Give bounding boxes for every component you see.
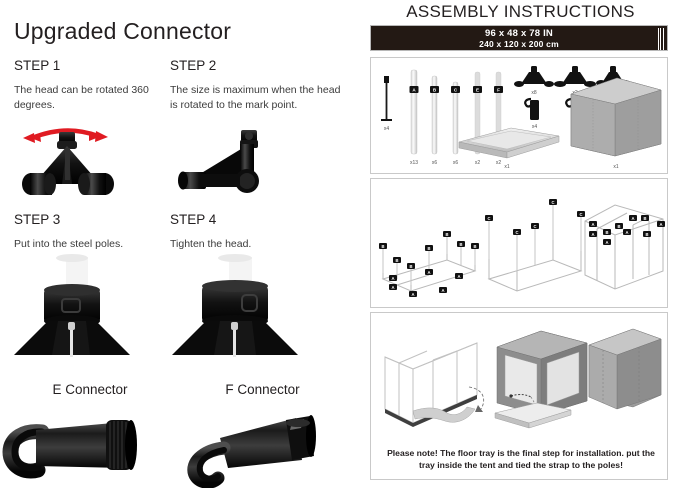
label-chip: C [577, 211, 585, 217]
pole-label-e: E [476, 88, 479, 93]
tripod-connector-folded-figure [178, 128, 298, 200]
assembly-labels: B B B B B B B A A A A A A C C C [379, 199, 665, 297]
svg-text:B: B [381, 244, 384, 249]
parts-list-panel: x4 A x13 B x6 C x6 E [370, 57, 668, 174]
step-3-description: Put into the steel poles. [14, 237, 164, 252]
tripod-connector-folded-icon [178, 128, 298, 200]
pole-label-f: F [497, 88, 500, 93]
step-4-title: STEP 4 [170, 212, 345, 227]
tripod-connector-rotating-figure [10, 118, 142, 198]
connector-3way-qty: x8 [531, 90, 537, 96]
svg-text:B: B [643, 216, 646, 221]
tent-cover-group: x1 [571, 78, 661, 170]
assembly-instruction-sheet: Upgraded Connector STEP 1 The head can b… [0, 0, 679, 488]
step-1-description: The head can be rotated 360 degrees. [14, 83, 164, 112]
f-connector-hook-icon [180, 408, 345, 488]
connector-tightened-figure [168, 255, 318, 360]
tent-cover-qty: x1 [613, 164, 619, 170]
svg-text:C: C [515, 230, 518, 235]
assembly-instructions-title: ASSEMBLY INSTRUCTIONS [362, 2, 679, 22]
parts-list-diagram: x4 A x13 B x6 C x6 E [371, 58, 667, 173]
svg-text:A: A [659, 222, 662, 227]
f-connector-block: F Connector [180, 382, 345, 397]
label-chip: B [471, 243, 479, 249]
label-chip: B [393, 257, 401, 263]
svg-text:A: A [591, 232, 594, 237]
tent-closed [589, 329, 661, 409]
final-steps-panel: Please note! The floor tray is the final… [370, 312, 668, 480]
label-chip: A [389, 275, 397, 281]
label-chip: A [439, 287, 447, 293]
svg-text:B: B [445, 232, 448, 237]
pole-qty-c: x6 [453, 160, 459, 166]
label-chip: C [549, 199, 557, 205]
e-connector-title: E Connector [10, 382, 170, 397]
e-connector-figure [2, 408, 167, 486]
connector-on-white-pole-icon [8, 255, 148, 360]
svg-text:B: B [645, 232, 648, 237]
e-connector-block: E Connector [10, 382, 170, 397]
floor-tray-qty: x1 [504, 164, 510, 170]
svg-text:B: B [617, 224, 620, 229]
svg-text:A: A [441, 288, 444, 293]
label-chip: A [657, 221, 665, 227]
barcode-stripe [658, 28, 665, 50]
svg-text:C: C [579, 212, 582, 217]
step-1-block: STEP 1 The head can be rotated 360 degre… [14, 58, 164, 112]
label-chip: B [643, 231, 651, 237]
pole-qty-b: x6 [432, 160, 438, 166]
tray-arrow-head [475, 405, 483, 412]
page-title: Upgraded Connector [14, 18, 231, 45]
svg-text:B: B [409, 264, 412, 269]
label-chip: C [485, 215, 493, 221]
f-connector-figure [180, 408, 345, 488]
svg-text:B: B [605, 230, 608, 235]
step-2-description: The size is maximum when the head is rot… [170, 83, 345, 112]
column-divider [362, 0, 363, 488]
size-metric: 240 x 120 x 200 cm [479, 39, 559, 49]
label-chip: A [409, 291, 417, 297]
f-connector-title: F Connector [180, 382, 345, 397]
assembly-uprights [489, 201, 581, 291]
label-chip: B [615, 223, 623, 229]
svg-text:B: B [473, 244, 476, 249]
svg-text:A: A [625, 230, 628, 235]
svg-text:A: A [631, 216, 634, 221]
label-chip: B [457, 241, 465, 247]
frame-assembly-panel: B B B B B B B A A A A A A C C C [370, 178, 668, 308]
pole-qty-f: x2 [496, 160, 502, 166]
step-3-title: STEP 3 [14, 212, 164, 227]
svg-text:B: B [459, 242, 462, 247]
svg-text:A: A [605, 240, 608, 245]
svg-text:B: B [395, 258, 398, 263]
right-panel-assembly: ASSEMBLY INSTRUCTIONS 96 x 48 x 78 IN 24… [362, 0, 679, 488]
svg-text:A: A [391, 276, 394, 281]
label-chip: B [641, 215, 649, 221]
step-4-description: Tighten the head. [170, 237, 345, 252]
pole-qty-e: x2 [475, 160, 481, 166]
label-chip: A [623, 229, 631, 235]
step-4-block: STEP 4 Tighten the head. [170, 212, 345, 252]
connector-on-white-pole-figure [8, 255, 148, 360]
label-chip: C [531, 223, 539, 229]
svg-text:A: A [427, 270, 430, 275]
label-chip: B [603, 229, 611, 235]
label-chip: A [589, 231, 597, 237]
label-chip: B [379, 243, 387, 249]
left-panel-upgraded-connector: Upgraded Connector STEP 1 The head can b… [0, 0, 358, 488]
size-banner: 96 x 48 x 78 IN 240 x 120 x 200 cm [370, 25, 668, 51]
final-assembly-diagram [371, 313, 667, 435]
svg-text:A: A [457, 274, 460, 279]
step-2-block: STEP 2 The size is maximum when the head… [170, 58, 345, 112]
strap-qty: x4 [384, 126, 390, 132]
frame-assembly-diagram: B B B B B B B A A A A A A C C C [371, 179, 667, 307]
label-chip: C [513, 229, 521, 235]
hook-e-group: x4 [525, 99, 539, 130]
step-2-title: STEP 2 [170, 58, 345, 73]
svg-text:C: C [551, 200, 554, 205]
label-chip: A [629, 215, 637, 221]
label-chip: A [603, 239, 611, 245]
svg-text:B: B [427, 246, 430, 251]
svg-text:C: C [487, 216, 490, 221]
step-1-title: STEP 1 [14, 58, 164, 73]
svg-text:A: A [391, 285, 394, 290]
label-chip: A [589, 221, 597, 227]
label-chip: A [389, 284, 397, 290]
size-imperial: 96 x 48 x 78 IN [485, 28, 553, 39]
label-chip: B [443, 231, 451, 237]
tripod-connector-rotating-icon [10, 118, 142, 198]
label-chip: B [425, 245, 433, 251]
svg-text:A: A [591, 222, 594, 227]
connector-tightened-icon [168, 255, 318, 360]
connector-3way-group: x8 [514, 66, 554, 96]
e-connector-hook-icon [2, 408, 167, 486]
label-chip: A [425, 269, 433, 275]
step-3-block: STEP 3 Put into the steel poles. [14, 212, 164, 252]
label-chip: A [455, 273, 463, 279]
svg-text:C: C [533, 224, 536, 229]
svg-text:A: A [411, 292, 414, 297]
pole-qty-a: x13 [410, 160, 418, 166]
installation-note: Please note! The floor tray is the final… [385, 447, 657, 471]
assembly-full-frame [585, 205, 663, 289]
hook-e-qty: x4 [532, 124, 538, 130]
label-chip: B [407, 263, 415, 269]
